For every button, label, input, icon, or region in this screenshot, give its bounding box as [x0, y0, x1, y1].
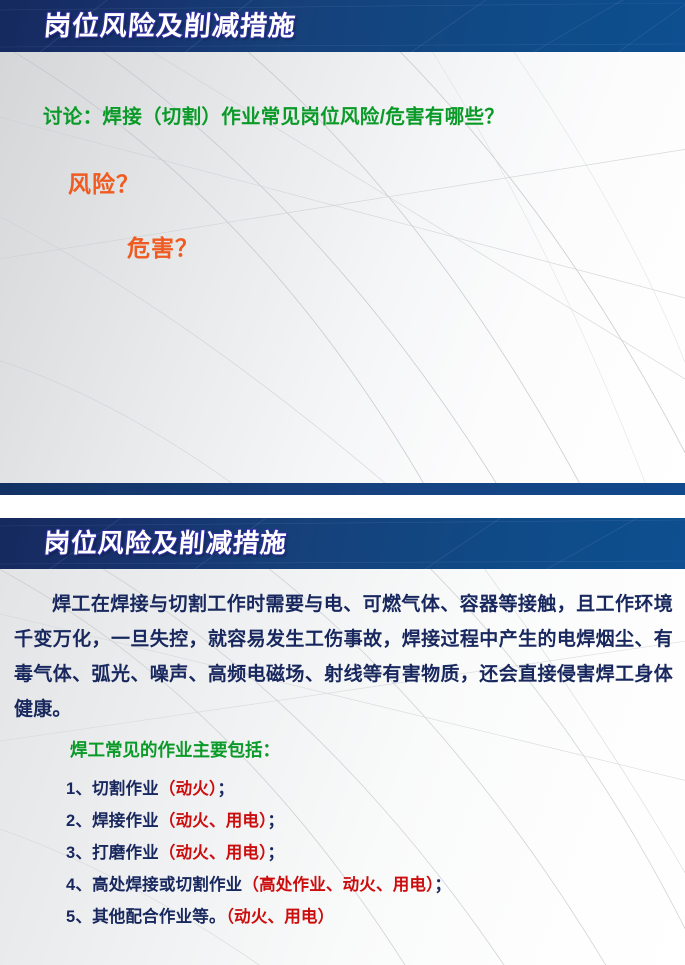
list-item-hazard-tag: （动火、用电） — [159, 812, 268, 830]
list-item-hazard-tag: （动火） — [159, 780, 218, 798]
list-item-number: 2、 — [66, 812, 92, 830]
list-item: 2、焊接作业（动火、用电）； — [66, 805, 675, 837]
list-item-number: 4、 — [66, 876, 92, 894]
operations-list-heading: 焊工常见的作业主要包括： — [70, 737, 280, 762]
list-item-punctuation: ； — [217, 780, 234, 798]
slide-2-title-banner: 岗位风险及削减措施 — [0, 518, 685, 569]
risk-prompt: 风险？ — [68, 165, 140, 199]
list-item-hazard-tag: （高处作业、动火、用电） — [242, 876, 434, 894]
list-item-text: 打磨作业 — [92, 844, 159, 862]
list-item: 4、高处焊接或切割作业（高处作业、动火、用电）； — [66, 869, 675, 901]
list-item-text: 高处焊接或切割作业 — [92, 876, 242, 894]
slide-separator — [0, 507, 685, 518]
list-item-text: 切割作业 — [92, 780, 159, 798]
slide-2-title: 岗位风险及削减措施 — [0, 518, 685, 569]
slide-1-bottom-bar — [0, 483, 685, 495]
list-item: 3、打磨作业（动火、用电）； — [66, 837, 675, 869]
slide-1-body: 讨论：焊接（切割）作业常见岗位风险/危害有哪些？ 风险？ 危害？ — [0, 52, 685, 495]
list-item-hazard-tag: （动火、用电） — [226, 908, 335, 926]
slide-2-body: 焊工在焊接与切割工作时需要与电、可燃气体、容器等接触，且工作环境千变万化，一旦失… — [0, 569, 685, 965]
slide-1-title-banner: 岗位风险及削减措施 — [0, 0, 685, 52]
intro-paragraph: 焊工在焊接与切割工作时需要与电、可燃气体、容器等接触，且工作环境千变万化，一旦失… — [14, 587, 673, 727]
slide-2: 岗位风险及削减措施 焊工在焊接与切割工作时需要与电、可燃气体、容器等接触，且工作… — [0, 518, 685, 965]
list-item-number: 3、 — [66, 844, 92, 862]
list-item-number: 1、 — [66, 780, 92, 798]
list-item: 5、其他配合作业等。（动火、用电） — [66, 901, 675, 933]
slide-1: 岗位风险及削减措施 讨论：焊接（切割）作业常见岗位风险/危害 — [0, 0, 685, 507]
operations-list: 1、切割作业（动火）； 2、焊接作业（动火、用电）； 3、打磨作业（动火、用电）… — [66, 773, 675, 933]
list-item: 1、切割作业（动火）； — [66, 773, 675, 805]
list-item-punctuation: ； — [268, 844, 285, 862]
hazard-prompt: 危害？ — [127, 229, 199, 263]
list-item-punctuation: ； — [435, 876, 452, 894]
list-item-hazard-tag: （动火、用电） — [159, 844, 268, 862]
list-item-punctuation: ； — [268, 812, 285, 830]
list-item-text: 焊接作业 — [92, 812, 159, 830]
slide-1-title: 岗位风险及削减措施 — [0, 0, 685, 52]
list-item-text: 其他配合作业等。 — [92, 908, 226, 926]
discussion-question: 讨论：焊接（切割）作业常见岗位风险/危害有哪些？ — [43, 100, 504, 129]
list-item-number: 5、 — [66, 908, 92, 926]
